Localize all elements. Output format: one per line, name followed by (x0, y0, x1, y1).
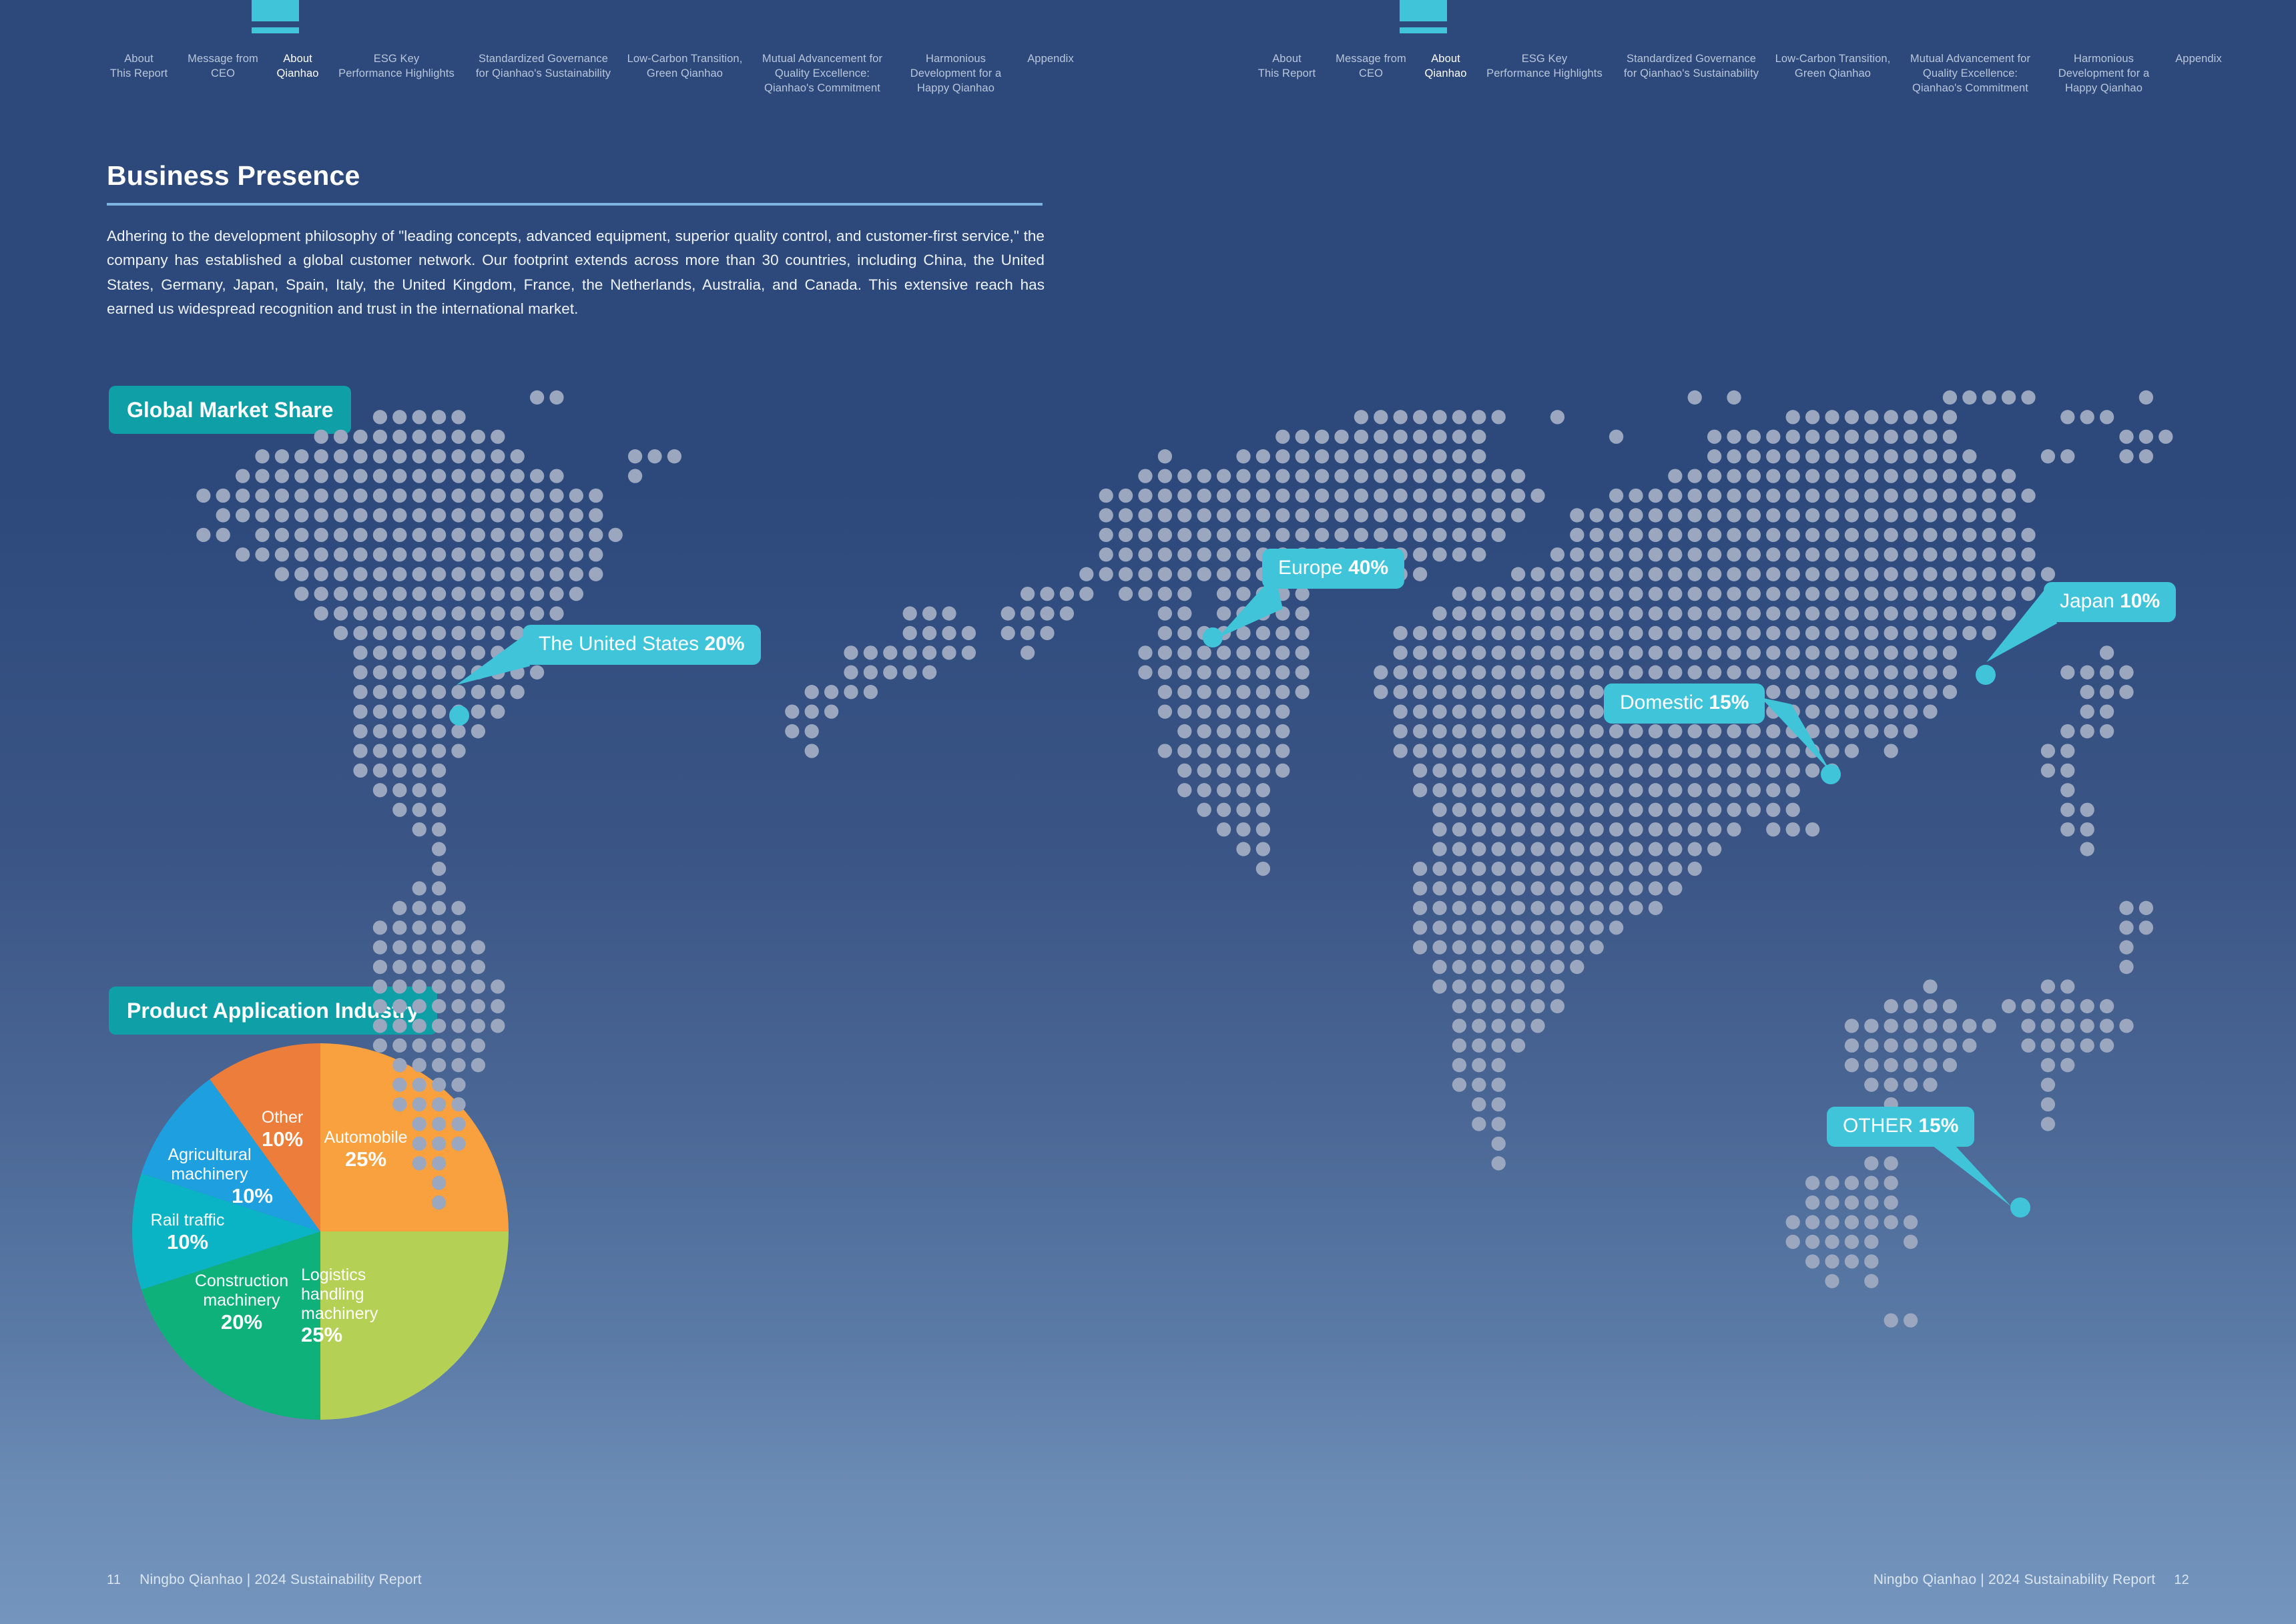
active-tab-marker (1400, 0, 1447, 21)
nav-label: Standardized Governancefor Qianhao's Sus… (476, 53, 611, 79)
footer-left: 11 Ningbo Qianhao | 2024 Sustainability … (107, 1572, 422, 1588)
nav-item-about-this-report[interactable]: AboutThis Report (100, 52, 178, 81)
nav-item-low-carbon-transition[interactable]: Low-Carbon Transition,Green Qianhao (1769, 52, 1897, 81)
callout-value: 15% (1709, 692, 1749, 714)
nav-label: Appendix (2175, 53, 2222, 65)
nav-label: Standardized Governancefor Qianhao's Sus… (1624, 53, 1759, 79)
title-divider (107, 203, 1043, 206)
nav-label: AboutQianhao (1424, 53, 1466, 79)
callout-value: 10% (2120, 590, 2160, 612)
active-tab-underline (1400, 27, 1447, 33)
nav-label: Low-Carbon Transition,Green Qianhao (627, 53, 743, 79)
nav-label: Mutual Advancement forQuality Excellence… (1910, 53, 2030, 94)
nav-item-standardized-governance[interactable]: Standardized Governancefor Qianhao's Sus… (1614, 52, 1769, 81)
nav-label: HarmoniousDevelopment for aHappy Qianhao (910, 53, 1002, 94)
callout-region: Europe (1278, 557, 1343, 579)
nav-label: ESG KeyPerformance Highlights (338, 53, 455, 79)
callout-bubble: The United States 20% (523, 625, 761, 665)
nav-item-mutual-advancement[interactable]: Mutual Advancement forQuality Excellence… (749, 52, 896, 96)
callout-marker-dot (2010, 1197, 2030, 1217)
callout-marker-dot (1821, 764, 1841, 784)
nav-label: HarmoniousDevelopment for aHappy Qianhao (2058, 53, 2150, 94)
callout-marker-dot (1976, 665, 1996, 685)
active-tab-marker (252, 0, 299, 21)
callout-value: 20% (704, 633, 744, 655)
callout-bubble: OTHER 15% (1827, 1107, 1974, 1147)
nav-item-appendix[interactable]: Appendix (2164, 52, 2233, 67)
nav-label: Mutual Advancement forQuality Excellence… (762, 53, 882, 94)
footer-text-left: Ningbo Qianhao | 2024 Sustainability Rep… (139, 1572, 422, 1588)
nav-item-appendix[interactable]: Appendix (1016, 52, 1085, 67)
top-navigation-left: AboutThis Report Message fromCEO AboutQi… (0, 0, 1148, 100)
top-navigation-right: AboutThis Report Message fromCEO AboutQi… (1148, 0, 2296, 100)
nav-label: ESG KeyPerformance Highlights (1486, 53, 1603, 79)
nav-item-low-carbon-transition[interactable]: Low-Carbon Transition,Green Qianhao (621, 52, 749, 81)
callout-bubble: Japan 10% (2044, 582, 2176, 622)
intro-paragraph: Adhering to the development philosophy o… (107, 224, 1045, 322)
nav-item-harmonious-development[interactable]: HarmoniousDevelopment for aHappy Qianhao (896, 52, 1016, 96)
report-spread: AboutThis Report Message fromCEO AboutQi… (0, 0, 2296, 1624)
nav-label: Appendix (1027, 53, 1074, 65)
nav-label: AboutQianhao (276, 53, 318, 79)
callout-bubble: Europe 40% (1262, 549, 1404, 589)
callout-marker-dot (449, 706, 469, 726)
callout-region: Japan (2060, 590, 2114, 612)
callout-marker-dot (1203, 627, 1223, 647)
footer-text-right: Ningbo Qianhao | 2024 Sustainability Rep… (1874, 1572, 2156, 1588)
nav-label: AboutThis Report (1258, 53, 1316, 79)
page-title: Business Presence (107, 160, 360, 192)
callout-region: Domestic (1620, 692, 1703, 714)
callout-value: 15% (1918, 1115, 1958, 1137)
callout-tail (441, 634, 534, 694)
nav-label: Low-Carbon Transition,Green Qianhao (1775, 53, 1891, 79)
nav-label: Message fromCEO (1336, 53, 1406, 79)
world-map-svg (160, 374, 2233, 1382)
page-number-right: 12 (2174, 1573, 2189, 1588)
callout-region: The United States (539, 633, 699, 655)
nav-item-about-this-report[interactable]: AboutThis Report (1248, 52, 1326, 81)
nav-item-esg-key-performance-highlights[interactable]: ESG KeyPerformance Highlights (327, 52, 466, 81)
page-number-left: 11 (107, 1573, 121, 1588)
nav-label: Message fromCEO (188, 53, 258, 79)
nav-item-message-from-ceo[interactable]: Message fromCEO (178, 52, 268, 81)
footer-right: Ningbo Qianhao | 2024 Sustainability Rep… (1874, 1572, 2189, 1588)
nav-item-mutual-advancement[interactable]: Mutual Advancement forQuality Excellence… (1897, 52, 2044, 96)
nav-item-about-qianhao[interactable]: AboutQianhao (268, 52, 327, 81)
nav-item-harmonious-development[interactable]: HarmoniousDevelopment for aHappy Qianhao (2044, 52, 2164, 96)
callout-bubble: Domestic 15% (1604, 684, 1765, 724)
dotted-world-map (160, 374, 2233, 1382)
callout-value: 40% (1348, 557, 1388, 579)
nav-label: AboutThis Report (110, 53, 168, 79)
nav-item-about-qianhao[interactable]: AboutQianhao (1416, 52, 1475, 81)
nav-item-message-from-ceo[interactable]: Message fromCEO (1326, 52, 1416, 81)
active-tab-underline (252, 27, 299, 33)
nav-item-standardized-governance[interactable]: Standardized Governancefor Qianhao's Sus… (466, 52, 621, 81)
nav-item-esg-key-performance-highlights[interactable]: ESG KeyPerformance Highlights (1475, 52, 1614, 81)
callout-region: OTHER (1843, 1115, 1913, 1137)
